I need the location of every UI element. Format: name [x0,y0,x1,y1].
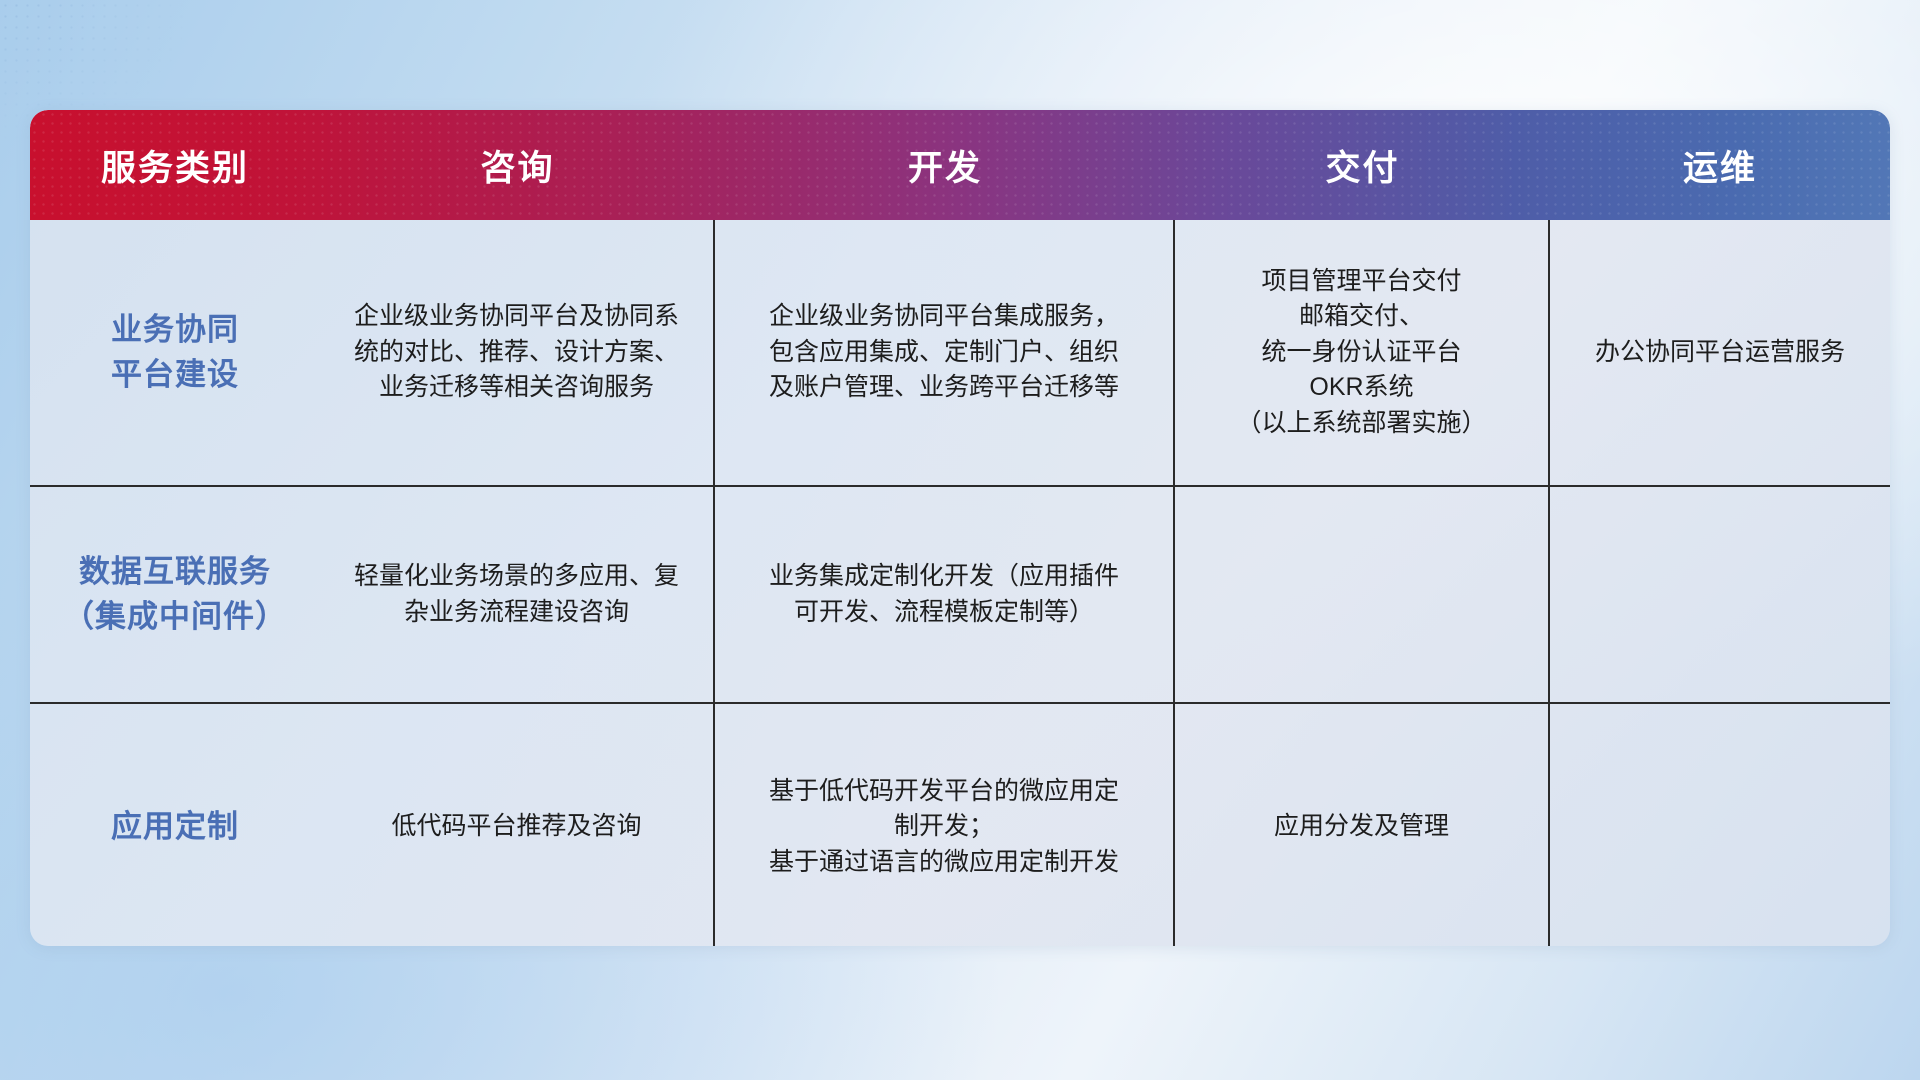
row-category-label: 应用定制 [111,805,239,850]
cell-delivery [1175,487,1550,702]
row-category-cell: 数据互联服务 （集成中间件） [30,487,320,702]
table-row: 业务协同 平台建设 企业级业务协同平台及协同系 统的对比、推荐、设计方案、 业务… [30,220,1890,487]
column-header-development: 开发 [715,140,1175,191]
cell-development: 基于低代码开发平台的微应用定 制开发； 基于通过语言的微应用定制开发 [715,704,1175,946]
cell-operations [1550,487,1890,702]
cell-delivery: 项目管理平台交付 邮箱交付、 统一身份认证平台 OKR系统 （以上系统部署实施） [1175,220,1550,485]
cell-operations [1550,704,1890,946]
column-header-category: 服务类别 [30,140,320,191]
cell-consulting: 轻量化业务场景的多应用、复 杂业务流程建设咨询 [320,487,715,702]
row-category-label: 数据互联服务 （集成中间件） [63,550,287,640]
table-body: 业务协同 平台建设 企业级业务协同平台及协同系 统的对比、推荐、设计方案、 业务… [30,220,1890,946]
table-row: 应用定制 低代码平台推荐及咨询 基于低代码开发平台的微应用定 制开发； 基于通过… [30,704,1890,946]
row-category-cell: 业务协同 平台建设 [30,220,320,485]
cell-operations: 办公协同平台运营服务 [1550,220,1890,485]
slide-canvas: 服务类别 咨询 开发 交付 运维 业务协同 平台建设 企业级业务协同平台及协同系… [0,0,1920,1080]
row-category-label: 业务协同 平台建设 [111,308,239,398]
column-header-operations: 运维 [1550,140,1890,191]
cell-delivery: 应用分发及管理 [1175,704,1550,946]
table-header-row: 服务类别 咨询 开发 交付 运维 [30,110,1890,220]
cell-development: 企业级业务协同平台集成服务， 包含应用集成、定制门户、组织 及账户管理、业务跨平… [715,220,1175,485]
row-category-cell: 应用定制 [30,704,320,946]
column-header-consulting: 咨询 [320,140,715,191]
column-header-delivery: 交付 [1175,140,1550,191]
service-matrix-table: 服务类别 咨询 开发 交付 运维 业务协同 平台建设 企业级业务协同平台及协同系… [30,110,1890,946]
table-row: 数据互联服务 （集成中间件） 轻量化业务场景的多应用、复 杂业务流程建设咨询 业… [30,487,1890,704]
cell-consulting: 低代码平台推荐及咨询 [320,704,715,946]
cell-consulting: 企业级业务协同平台及协同系 统的对比、推荐、设计方案、 业务迁移等相关咨询服务 [320,220,715,485]
cell-development: 业务集成定制化开发（应用插件 可开发、流程模板定制等） [715,487,1175,702]
